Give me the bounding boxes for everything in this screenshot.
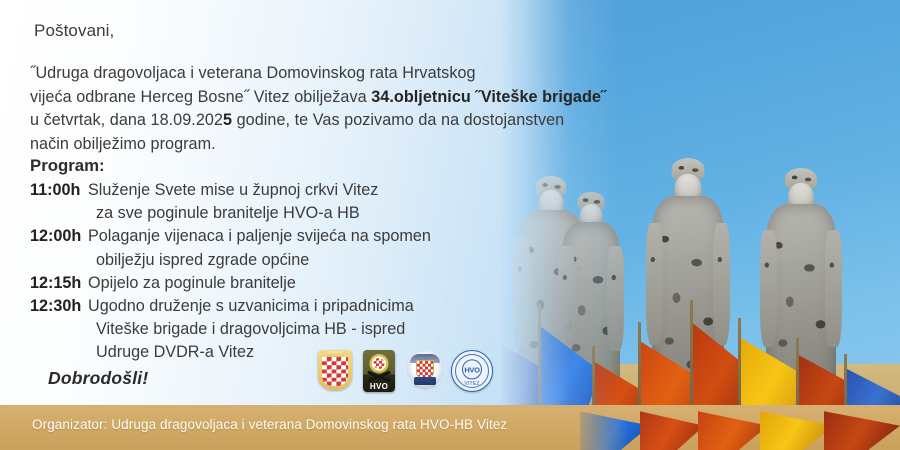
program-item: 12:00hPolaganje vijenaca i paljenje svij…	[30, 225, 590, 248]
flag-cloth	[698, 405, 768, 450]
hvo-emblem: HVO	[363, 350, 395, 392]
program-time: 12:00h	[30, 225, 88, 248]
program-text: Polaganje vijenaca i paljenje svijeća na…	[88, 227, 431, 245]
badge-banner	[414, 377, 436, 385]
intro-paragraph: ˝Udruga dragovoljaca i veterana Domovins…	[30, 62, 630, 156]
invitation-poster: Poštovani, ˝Udruga dragovoljaca i vetera…	[0, 0, 900, 450]
vitez-label: VITEZ	[452, 381, 492, 387]
ceremonial-flag	[698, 405, 768, 450]
anniversary-highlight: 34.obljetnicu ˝Viteške brigade˝	[371, 88, 606, 106]
program-continuation: obilježju ispred zgrade općine	[30, 249, 590, 272]
flag-cloth	[640, 405, 704, 450]
program-item: 12:30hUgodno druženje s uzvanicima i pri…	[30, 295, 590, 318]
program-list: 11:00hSluženje Svete mise u župnoj crkvi…	[30, 179, 590, 365]
intro-line-3a: u četvrtak, dana 18.09.202	[30, 111, 223, 129]
croatian-coat-of-arms-emblem	[318, 350, 352, 390]
flag-cloth	[824, 405, 900, 450]
program-text: Služenje Svete mise u župnoj crkvi Vitez	[88, 181, 378, 199]
program-continuation: za sve poginule branitelje HVO-a HB	[30, 202, 590, 225]
dvdr-vitez-seal-emblem: HVO VITEZ	[451, 350, 493, 392]
program-continuation: Udruge DVDR-a Vitez	[30, 341, 590, 364]
croatian-shield-icon	[318, 350, 352, 390]
checkerboard-pattern	[322, 357, 348, 386]
soldier-arm-right	[825, 230, 842, 347]
hvo-ring	[370, 354, 389, 373]
program-continuation: Viteške brigade i dragovoljcima HB - isp…	[30, 318, 590, 341]
organizer-text: Organizator: Udruga dragovoljaca i veter…	[32, 417, 507, 432]
brigade-badge-icon	[406, 350, 444, 390]
program-time: 12:30h	[30, 295, 88, 318]
hvo-monogram: HVO	[462, 359, 482, 379]
welcome-text: Dobrodošli!	[48, 368, 148, 389]
program-title: Program:	[30, 156, 105, 176]
intro-line-4: način obilježimo program.	[30, 135, 216, 153]
program-text: Opijelo za poginule branitelje	[88, 274, 296, 292]
program-item: 11:00hSluženje Svete mise u župnoj crkvi…	[30, 179, 590, 202]
year-last-digit: 5	[223, 111, 232, 129]
flag-cloth	[760, 405, 834, 450]
intro-line-2a: vijeća odbrane Herceg Bosne˝ Vitez obilj…	[30, 88, 371, 106]
ceremonial-flag	[760, 405, 834, 450]
program-text: Ugodno druženje s uzvanicima i pripadnic…	[88, 297, 414, 315]
hvo-shield-icon: HVO	[363, 350, 395, 392]
program-time: 11:00h	[30, 179, 88, 202]
ceremonial-flag	[824, 405, 900, 450]
ceremonial-flag	[640, 405, 704, 450]
organizer-footer-bar: Organizator: Udruga dragovoljaca i veter…	[0, 405, 900, 450]
footer-flags-overlay	[570, 405, 900, 450]
program-item: 12:15hOpijelo za poginule branitelje	[30, 272, 590, 295]
hvo-label: HVO	[363, 382, 395, 391]
greeting-text: Poštovani,	[34, 21, 114, 41]
intro-line-1: ˝Udruga dragovoljaca i veterana Domovins…	[30, 64, 476, 82]
program-time: 12:15h	[30, 272, 88, 295]
brigade-badge-emblem	[406, 350, 444, 390]
intro-line-3b: godine, te Vas pozivamo da na dostojanst…	[232, 111, 564, 129]
blue-seal-icon: HVO VITEZ	[451, 350, 493, 392]
